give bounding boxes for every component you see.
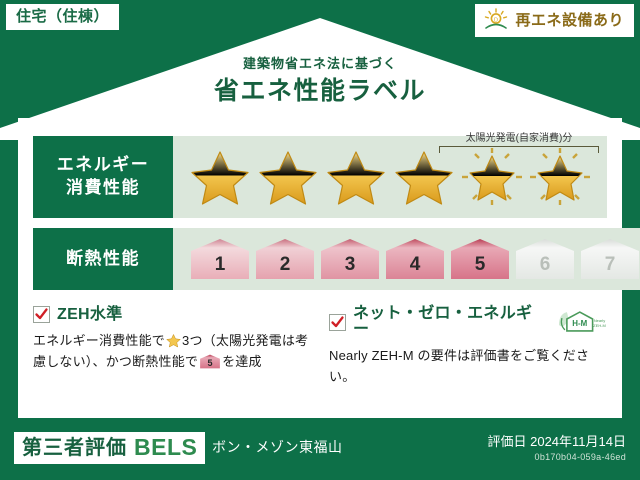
bels-badge: 第三者評価 BELS	[14, 432, 205, 464]
note-net-zero-body: Nearly ZEH-M の要件は評価書をご覧ください。	[329, 345, 607, 388]
note-net-zero: ネット・ゼロ・エネルギー H-M Nearly ZEH-M Nearly ZEH…	[329, 306, 607, 388]
title-subtitle: 建築物省エネ法に基づく	[0, 56, 640, 72]
bels-jp-label: 第三者評価	[22, 438, 127, 458]
note-zeh-body: エネルギー消費性能で3つ（太陽光発電は考慮しない）、かつ断熱性能で5を達成	[33, 330, 311, 373]
evaluation-id: 0b170b04-059a-46ed	[535, 453, 626, 462]
note-zeh-text-1: エネルギー消費性能で	[33, 333, 165, 348]
title-block: 建築物省エネ法に基づく 省エネ性能ラベル	[0, 56, 640, 107]
renewable-badge-label: 再エネ設備あり	[515, 13, 624, 28]
insulation-level-value: 3	[319, 255, 381, 274]
notes-section: ZEH水準 エネルギー消費性能で3つ（太陽光発電は考慮しない）、かつ断熱性能で5…	[33, 306, 607, 388]
house-5-value: 5	[199, 359, 221, 368]
insulation-performance-value: 1 2 3	[173, 228, 640, 290]
star-filled	[189, 147, 251, 207]
net-zero-checkbox[interactable]	[329, 314, 346, 331]
solar-annotation-label: 太陽光発電(自家消費)分	[439, 134, 599, 144]
note-zeh: ZEH水準 エネルギー消費性能で3つ（太陽光発電は考慮しない）、かつ断熱性能で5…	[33, 306, 311, 388]
energy-label-line2: 消費性能	[66, 177, 140, 200]
insulation-level-value: 7	[579, 255, 640, 274]
sun-icon: D	[483, 8, 509, 32]
note-zeh-title: ZEH水準	[57, 307, 123, 323]
star-rating	[173, 147, 591, 207]
energy-label-line1: エネルギー	[57, 154, 150, 177]
insulation-level-value: 2	[254, 255, 316, 274]
star-solar	[461, 147, 523, 207]
star-filled	[325, 147, 387, 207]
insulation-performance-label: 断熱性能	[33, 228, 173, 290]
insulation-label-text: 断熱性能	[66, 248, 140, 271]
star-icon	[166, 333, 181, 348]
note-net-zero-header: ネット・ゼロ・エネルギー H-M Nearly ZEH-M	[329, 306, 607, 338]
evaluation-date: 評価日 2024年11月14日	[488, 435, 627, 448]
insulation-scale: 1 2 3	[173, 237, 640, 281]
bels-en-label: BELS	[134, 436, 197, 459]
renewable-badge: D 再エネ設備あり	[475, 4, 634, 37]
insulation-level-value: 6	[514, 255, 576, 274]
insulation-level: 6	[514, 237, 576, 281]
insulation-performance-row: 断熱性能	[33, 228, 607, 290]
insulation-level: 1	[189, 237, 251, 281]
insulation-level: 5	[449, 237, 511, 281]
insulation-level: 7	[579, 237, 640, 281]
star-solar	[529, 147, 591, 207]
note-net-zero-title: ネット・ゼロ・エネルギー	[353, 306, 547, 338]
energy-performance-row: エネルギー 消費性能 太陽光発電(自家消費)分	[33, 136, 607, 218]
footer: 第三者評価 BELS ボン・メゾン東福山 評価日 2024年11月14日 0b1…	[0, 424, 640, 480]
label-card: エネルギー 消費性能 太陽光発電(自家消費)分	[18, 118, 622, 418]
zeh-checkbox[interactable]	[33, 306, 50, 323]
energy-performance-value: 太陽光発電(自家消費)分	[173, 136, 607, 218]
insulation-level: 2	[254, 237, 316, 281]
svg-text:D: D	[494, 17, 498, 23]
note-zeh-text-3: を達成	[222, 354, 262, 369]
zeh-m-logo-text: H-M	[572, 319, 587, 328]
insulation-level: 3	[319, 237, 381, 281]
energy-performance-label: エネルギー 消費性能	[33, 136, 173, 218]
insulation-level-value: 5	[449, 255, 511, 274]
star-filled	[257, 147, 319, 207]
zeh-m-logo: H-M Nearly ZEH-M	[556, 309, 607, 335]
insulation-level-value: 4	[384, 255, 446, 274]
zeh-m-logo-sub2: ZEH-M	[593, 323, 605, 328]
energy-label-root: 住宅（住棟） D 再エネ設備あり 建築物省エネ法に基づく 省エネ性能ラベル エネ…	[0, 0, 640, 480]
building-name: ボン・メゾン東福山	[212, 440, 343, 454]
insulation-level: 4	[384, 237, 446, 281]
star-filled	[393, 147, 455, 207]
title-main: 省エネ性能ラベル	[0, 76, 640, 107]
insulation-level-value: 1	[189, 255, 251, 274]
note-zeh-header: ZEH水準	[33, 306, 311, 323]
house-5-icon: 5	[199, 354, 221, 369]
category-tag: 住宅（住棟）	[6, 4, 119, 30]
